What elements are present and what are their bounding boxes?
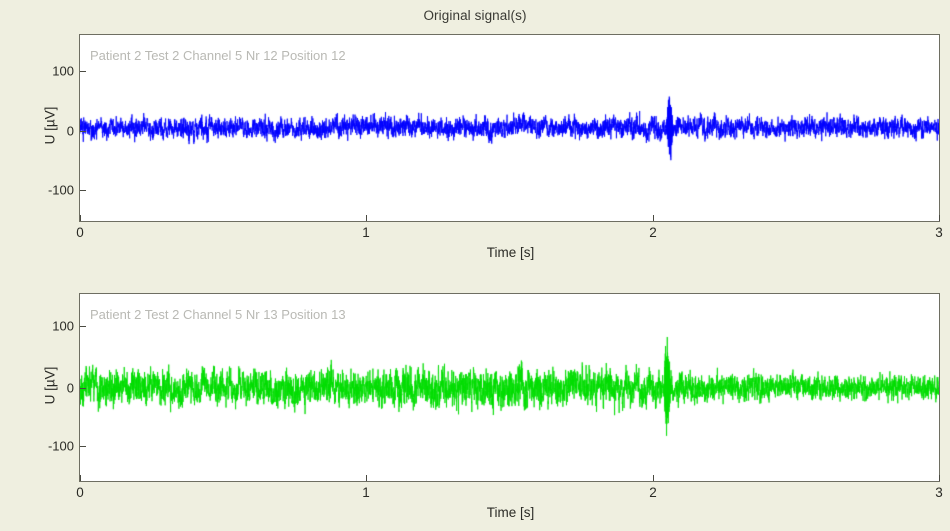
signal-trace-1 (80, 35, 939, 221)
panel-2-ytick-0 (80, 388, 86, 389)
panel-1-xlabel-1: 1 (362, 225, 370, 240)
panel-1-xlabel-0: 0 (76, 225, 84, 240)
panel-1-ytick-100 (80, 71, 86, 72)
signal-trace-2 (80, 294, 939, 481)
figure-title: Original signal(s) (0, 8, 950, 23)
panel-1-yaxis-title: U [µV] (43, 86, 58, 166)
panel-1-xaxis-title: Time [s] (80, 245, 941, 260)
panel-2-xaxis-title: Time [s] (80, 505, 941, 520)
panel-2-yaxis-title: U [µV] (43, 345, 58, 425)
matlab-figure-canvas: Original signal(s) Patient 2 Test 2 Chan… (0, 0, 950, 531)
panel-2-ylabel-100: 100 (28, 319, 74, 334)
panel-2-xlabel-0: 0 (76, 485, 84, 500)
panel-2-ytick--100 (80, 446, 86, 447)
panel-2-xlabel-2: 2 (649, 485, 657, 500)
panel-2-xtick-1 (366, 475, 367, 481)
panel-2-xtick-0 (80, 475, 81, 481)
panel-1-xtick-0 (80, 215, 81, 221)
panel-1-ytick--100 (80, 190, 86, 191)
plot-panel-2[interactable]: Patient 2 Test 2 Channel 5 Nr 13 Positio… (79, 293, 940, 482)
panel-1-ylabel--100: -100 (28, 183, 74, 198)
panel-1-ytick-0 (80, 131, 86, 132)
panel-2-ytick-100 (80, 326, 86, 327)
panel-1-xlabel-2: 2 (649, 225, 657, 240)
panel-1-xtick-2 (653, 215, 654, 221)
panel-2-xlabel-1: 1 (362, 485, 370, 500)
panel-1-ylabel-100: 100 (28, 64, 74, 79)
panel-1-xlabel-3: 3 (935, 225, 943, 240)
panel-2-ylabel--100: -100 (28, 439, 74, 454)
plot-panel-1[interactable]: Patient 2 Test 2 Channel 5 Nr 12 Positio… (79, 34, 940, 222)
panel-2-xlabel-3: 3 (935, 485, 943, 500)
panel-2-xtick-2 (653, 475, 654, 481)
panel-1-xtick-3 (939, 215, 940, 221)
panel-1-xtick-1 (366, 215, 367, 221)
panel-2-xtick-3 (939, 475, 940, 481)
